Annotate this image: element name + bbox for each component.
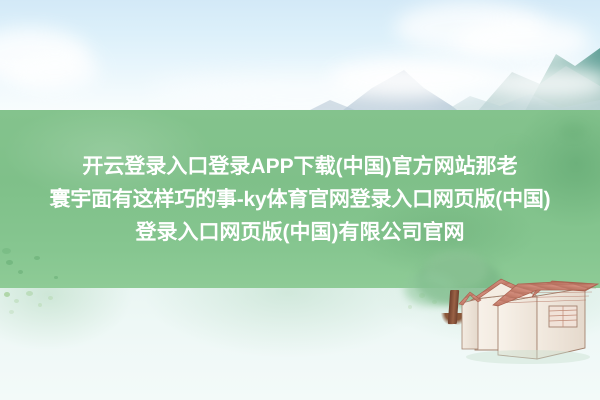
house-left-wing: [459, 292, 481, 349]
headline-line-1: 开云登录入口登录APP下载(中国)官方网站那老: [0, 150, 600, 183]
headline-line-2: 寰宇面有这样巧的事-ky体育官网登录入口网页版(中国): [0, 183, 600, 216]
house-window: [549, 306, 577, 327]
promo-banner: 开云登录入口登录APP下载(中国)官方网站那老 寰宇面有这样巧的事-ky体育官网…: [0, 0, 600, 400]
page-title: 开云登录入口登录APP下载(中国)官方网站那老 寰宇面有这样巧的事-ky体育官网…: [0, 150, 600, 249]
headline-line-3: 登录入口网页版(中国)有限公司官网: [0, 216, 600, 249]
house-main-body: [493, 281, 598, 359]
